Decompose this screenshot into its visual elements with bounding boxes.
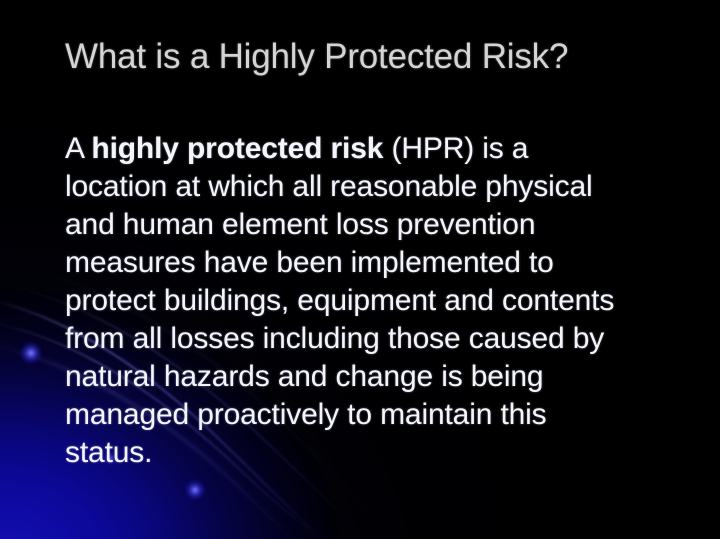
body-line: from all losses including those caused b…	[65, 320, 680, 358]
body-line: managed proactively to maintain this	[65, 396, 680, 434]
body-line: natural hazards and change is being	[65, 358, 680, 396]
body-line: protect buildings, equipment and content…	[65, 282, 680, 320]
glow-dot	[20, 342, 42, 364]
slide-canvas: What is a Highly Protected Risk? A highl…	[0, 0, 720, 539]
body-text-pre: A	[65, 132, 91, 165]
body-line: measures have been implemented to	[65, 244, 680, 282]
body-line: status.	[65, 434, 680, 472]
slide-title: What is a Highly Protected Risk?	[65, 36, 685, 78]
body-line: A highly protected risk (HPR) is a	[65, 130, 680, 168]
body-text-post: (HPR) is a	[383, 132, 528, 165]
body-text-emphasis: highly protected risk	[91, 132, 383, 165]
glow-dot	[185, 480, 205, 500]
body-line: location at which all reasonable physica…	[65, 168, 680, 206]
slide-body: A highly protected risk (HPR) is a locat…	[65, 130, 680, 472]
body-line: and human element loss prevention	[65, 206, 680, 244]
